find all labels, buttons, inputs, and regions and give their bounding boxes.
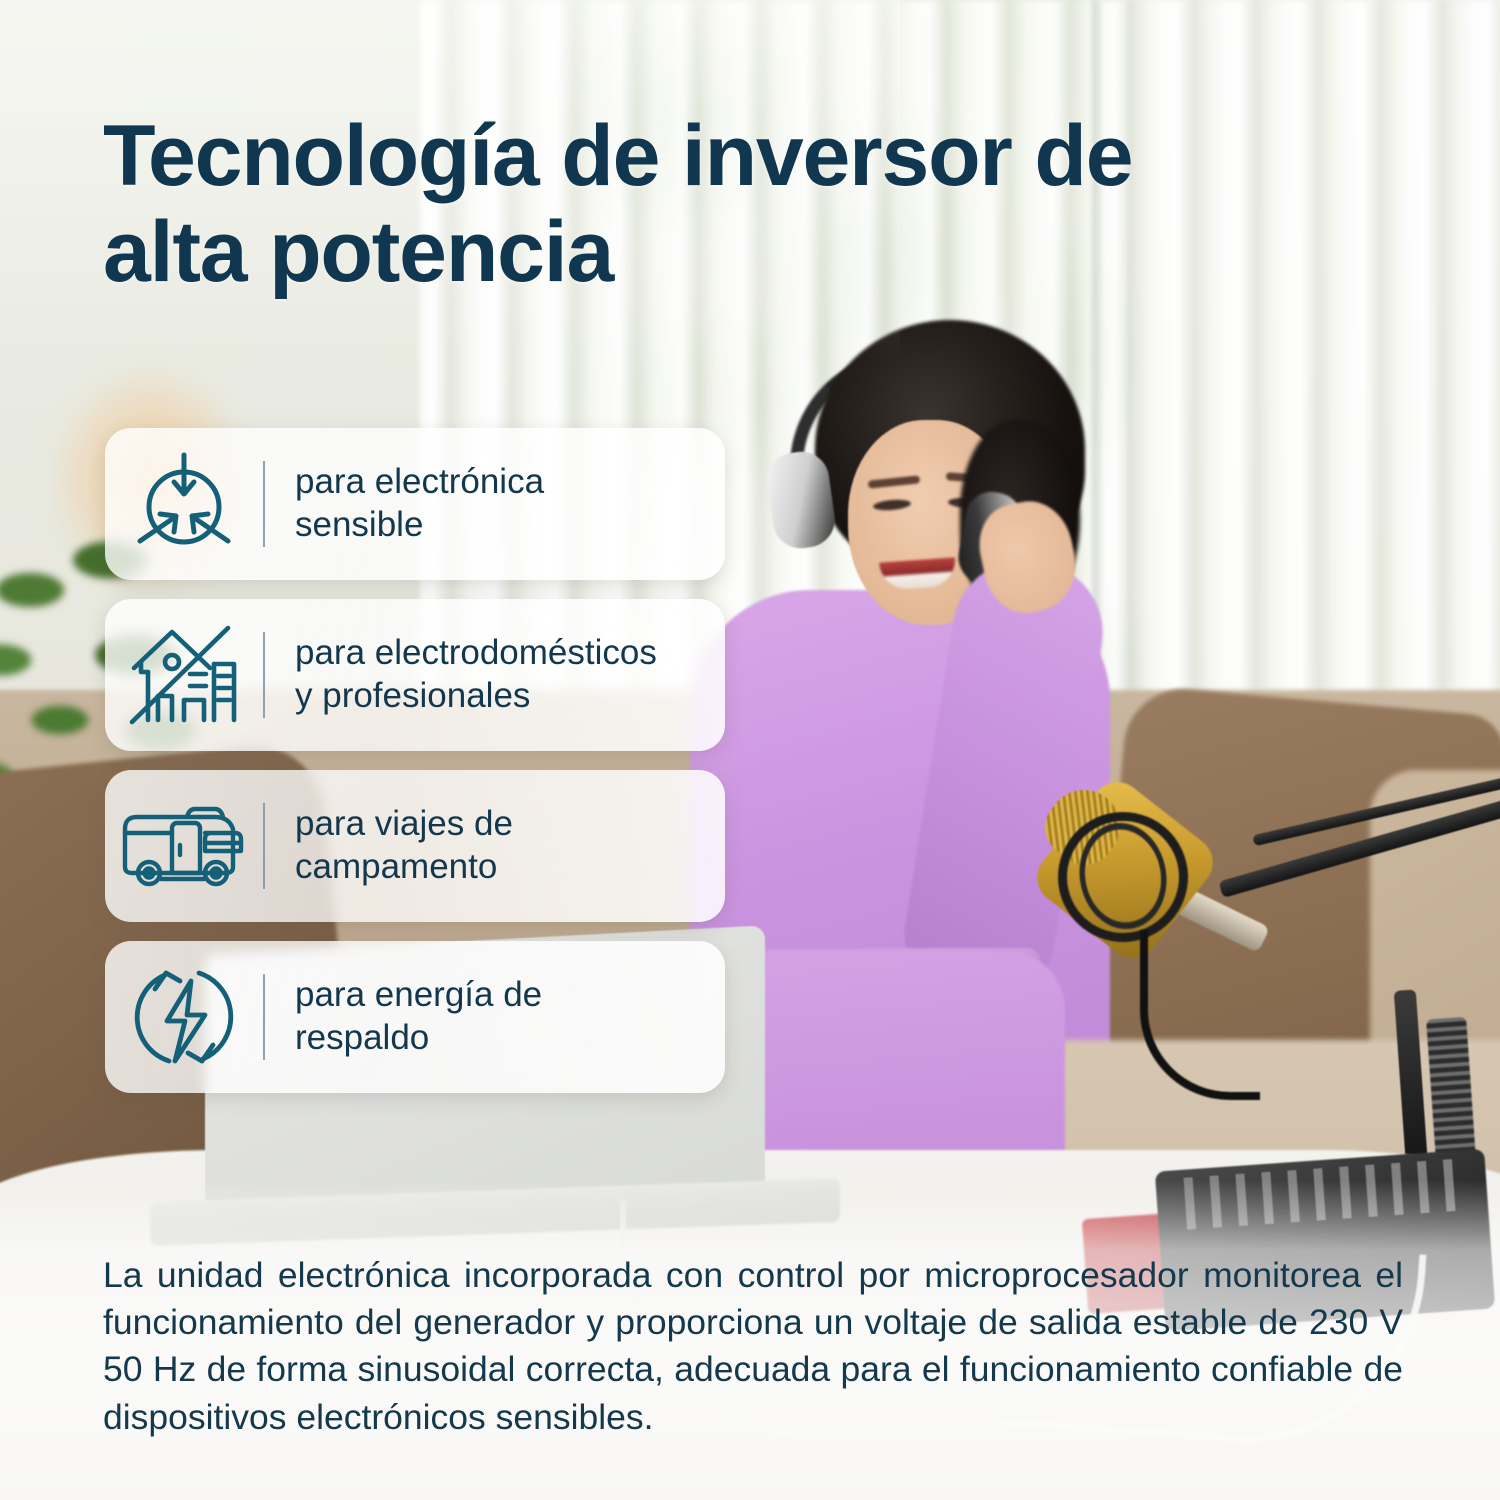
house-buildings-slash-icon [105, 622, 263, 728]
page-title: Tecnología de inversor de alta potencia [103, 108, 1383, 301]
card-divider [263, 974, 265, 1060]
feature-card-label: para energía de respaldo [265, 974, 542, 1059]
feature-card-appliances-professional[interactable]: para electrodomésticos y profesionales [105, 599, 725, 751]
card-divider [263, 803, 265, 889]
card-divider [263, 632, 265, 718]
feature-card-label: para viajes de campamento [265, 803, 513, 888]
feature-card-camping-trips[interactable]: para viajes de campamento [105, 770, 725, 922]
feature-card-label: para electrónica sensible [265, 461, 544, 546]
feature-card-sensitive-electronics[interactable]: para electrónica sensible [105, 428, 725, 580]
circle-converging-arrows-icon [105, 449, 263, 559]
feature-card-backup-power[interactable]: para energía de respaldo [105, 941, 725, 1093]
lightning-cycle-icon [105, 961, 263, 1073]
feature-card-list: para electrónica sensible [105, 428, 725, 1093]
feature-card-label: para electrodomésticos y profesionales [265, 632, 657, 717]
caravan-rv-icon [105, 803, 263, 889]
description-paragraph: La unidad electrónica incorporada con co… [103, 1252, 1403, 1441]
card-divider [263, 461, 265, 547]
